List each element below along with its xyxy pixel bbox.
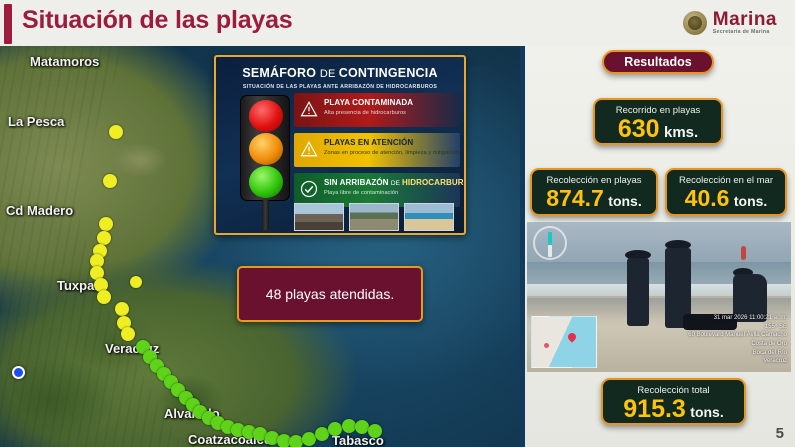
band-detail: Zonas en proceso de atención, limpieza y… xyxy=(324,147,460,156)
band-heading: PLAYAS EN ATENCIÓN xyxy=(324,133,460,147)
stat-value: 915.3 xyxy=(623,395,686,423)
logo-subtitle: Secretaría de Marina xyxy=(713,30,777,35)
stamp-line-4: Costa de Oro xyxy=(688,340,787,349)
beach-marker-attention xyxy=(103,174,117,188)
slide-root: Situación de las playas Marina Secretarí… xyxy=(0,0,795,447)
stat-unit: tons. xyxy=(690,404,723,420)
map-label: La Pesca xyxy=(8,114,64,129)
beach-marker-clean xyxy=(302,432,316,446)
legend-title-de: DE xyxy=(320,68,339,80)
map-label: Matamoros xyxy=(30,54,99,69)
stat-value: 40.6 xyxy=(685,185,730,211)
band-detail: Alta presencia de hidrocarburos xyxy=(324,107,460,116)
legend-body: PLAYA CONTAMINADA Alta presencia de hidr… xyxy=(216,91,464,235)
beach-rocks-photo xyxy=(294,203,344,231)
cleanup-crew-photo xyxy=(349,203,399,231)
legend-band-attention: PLAYAS EN ATENCIÓN Zonas en proceso de a… xyxy=(294,133,460,167)
band-heading-part1: SIN ARRIBAZÓN xyxy=(324,178,391,187)
beach-marker-clean xyxy=(289,435,303,447)
amber-lamp-icon xyxy=(249,133,283,165)
legend-title: SEMÁFORO DE CONTINGENCIA xyxy=(216,66,464,80)
beach-marker-clean xyxy=(368,424,382,438)
legend-bands: PLAYA CONTAMINADA Alta presencia de hidr… xyxy=(294,93,460,213)
red-lamp-icon xyxy=(249,100,283,132)
legend-title-part2: CONTINGENCIA xyxy=(339,66,438,80)
stat-recoleccion-en-playas: Recolección en playas 874.7 tons. xyxy=(530,168,658,216)
legend-subtitle: SITUACIÓN DE LAS PLAYAS ANTE ARRIBAZÓN D… xyxy=(216,84,464,90)
beach-cleanup-video[interactable]: 31 mar 2026 11:00:21 a. m. 155° SE 60 Bo… xyxy=(527,222,791,372)
stat-value: 874.7 xyxy=(546,185,604,211)
marina-logo: Marina Secretaría de Marina xyxy=(683,8,777,38)
logo-name: Marina xyxy=(713,10,777,29)
clean-beach-photo xyxy=(404,203,454,231)
beach-marker-attention xyxy=(97,290,111,304)
map-pin-icon xyxy=(566,331,577,342)
beach-marker-clean xyxy=(315,427,329,441)
stamp-line-3: 60 Boulevard Manuel Ávila Camacho xyxy=(688,331,787,340)
stamp-line-5: Boca del Río xyxy=(688,349,787,358)
eagle-emblem-icon xyxy=(683,11,707,35)
map-pin-secondary-icon xyxy=(544,343,549,348)
stat-recoleccion-en-el-mar: Recolección en el mar 40.6 tons. xyxy=(665,168,787,216)
beach-marker-attention xyxy=(109,125,123,139)
video-geostamp: 31 mar 2026 11:00:21 a. m. 155° SE 60 Bo… xyxy=(688,314,787,366)
map-label: Cd Madero xyxy=(6,203,73,218)
beach-marker-attention xyxy=(121,327,135,341)
band-heading: PLAYA CONTAMINADA xyxy=(324,93,460,107)
beach-marker-attention xyxy=(97,231,111,245)
page-number: 5 xyxy=(776,425,784,442)
panel-divider xyxy=(520,46,525,447)
slide-header: Situación de las playas Marina Secretarí… xyxy=(0,0,795,46)
stat-unit: tons. xyxy=(734,193,767,209)
beach-marker-clean xyxy=(328,422,342,436)
band-heading: SIN ARRIBAZÓN DE HIDROCARBURO xyxy=(324,173,460,187)
stat-recorrido-en-playas: Recorrido en playas 630 kms. xyxy=(593,98,723,145)
stamp-line-1: 31 mar 2026 11:00:21 a. m. xyxy=(688,314,787,323)
stat-unit: kms. xyxy=(664,124,698,141)
legend-title-part1: SEMÁFORO xyxy=(242,66,320,80)
beach-marker-attention xyxy=(130,276,142,288)
beach-marker-attention xyxy=(115,302,129,316)
check-circle-icon xyxy=(300,180,318,198)
legend-band-contaminated: PLAYA CONTAMINADA Alta presencia de hidr… xyxy=(294,93,460,127)
stamp-line-6: Veracruz xyxy=(688,357,787,366)
worker-figure xyxy=(627,258,649,326)
beach-marker-clean xyxy=(355,420,369,434)
header-accent-bar xyxy=(4,4,12,44)
green-lamp-icon xyxy=(249,166,283,198)
contingency-legend-panel: SEMÁFORO DE CONTINGENCIA SITUACIÓN DE LA… xyxy=(214,55,466,235)
legend-thumbnails xyxy=(294,203,454,231)
beaches-attended-callout: 48 playas atendidas. xyxy=(237,266,423,322)
beach-marker-clean xyxy=(342,419,356,433)
beach-marker-attention xyxy=(99,217,113,231)
stat-value: 630 xyxy=(618,115,660,143)
stat-unit: tons. xyxy=(608,193,641,209)
traffic-light-housing xyxy=(240,95,290,201)
blue-location-dot-icon xyxy=(12,366,25,379)
page-title: Situación de las playas xyxy=(22,6,293,35)
results-badge: Resultados xyxy=(602,50,714,74)
band-heading-part2: HIDROCARBURO xyxy=(402,178,466,187)
warning-triangle-icon xyxy=(300,100,318,118)
legend-band-clean: SIN ARRIBAZÓN DE HIDROCARBURO Playa libr… xyxy=(294,173,460,207)
location-inset-map xyxy=(531,316,597,368)
stamp-line-2: 155° SE xyxy=(688,323,787,332)
warning-triangle-icon xyxy=(300,140,318,158)
compass-needle-icon xyxy=(533,226,567,260)
band-heading-de: DE xyxy=(391,180,402,187)
stat-recoleccion-total: Recolección total 915.3 tons. xyxy=(601,378,746,425)
band-detail: Playa libre de contaminación xyxy=(324,187,460,196)
distant-person xyxy=(741,246,746,260)
